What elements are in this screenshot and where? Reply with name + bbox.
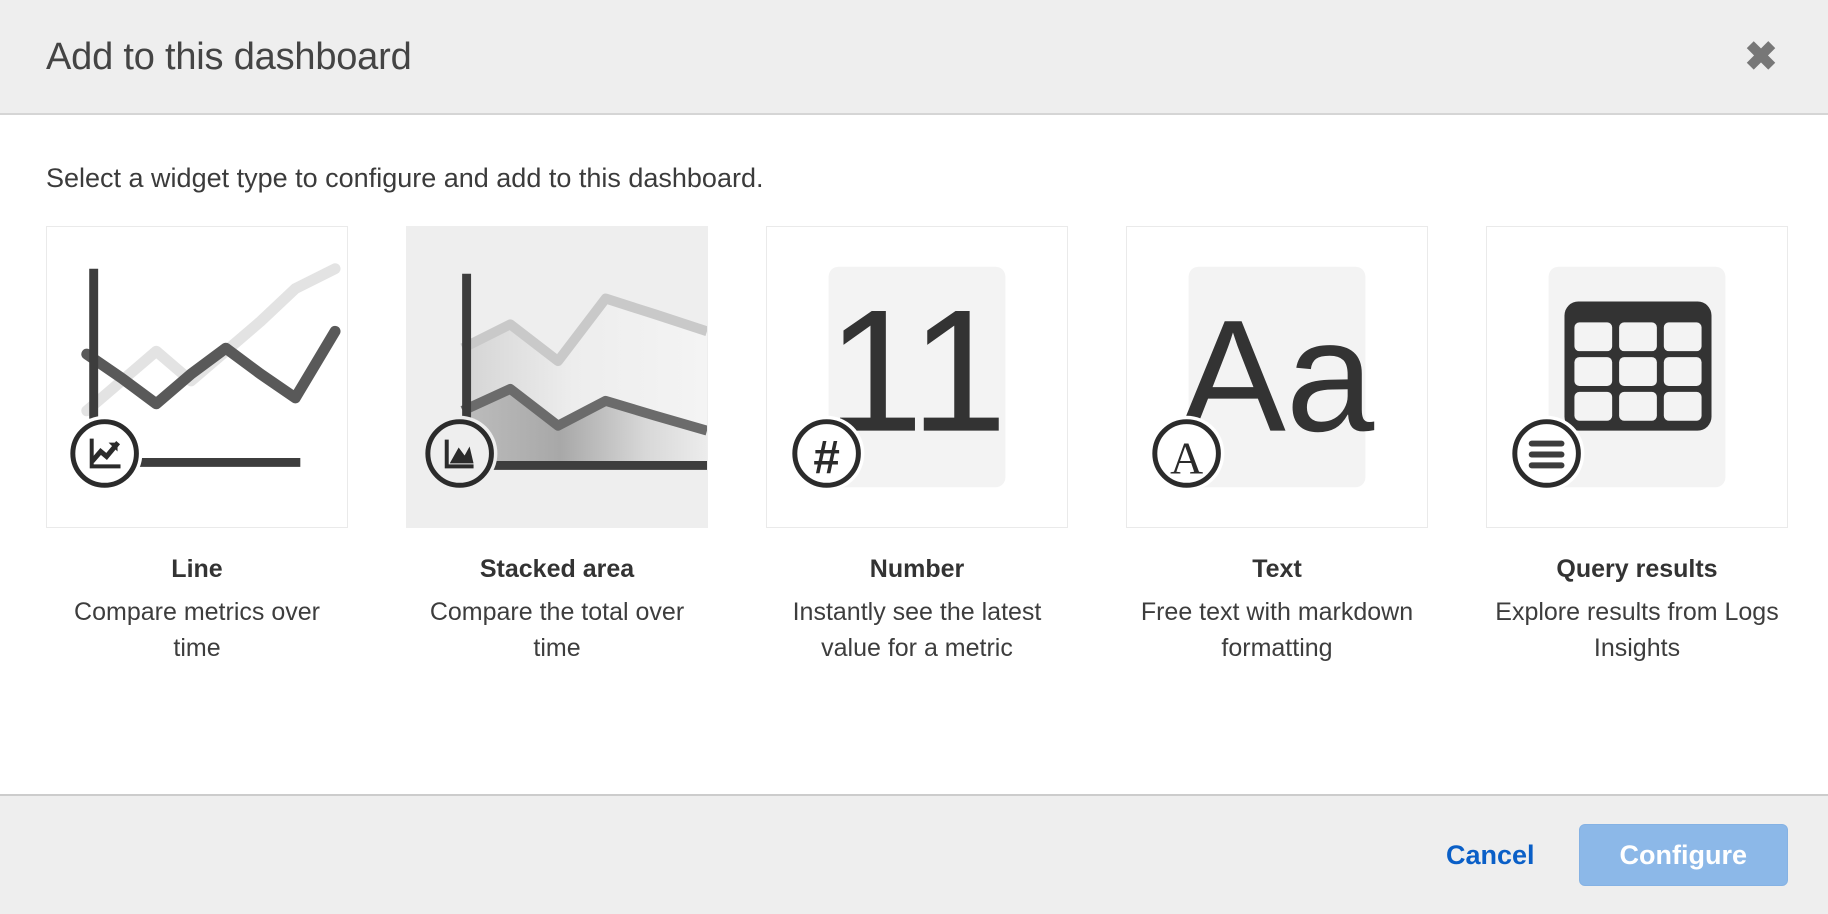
page-title: Add to this dashboard: [46, 38, 412, 76]
configure-button[interactable]: Configure: [1579, 824, 1789, 886]
svg-text:#: #: [813, 431, 840, 484]
widget-thumb-line: [46, 226, 348, 528]
modal-footer: Cancel Configure: [0, 794, 1828, 914]
intro-text: Select a widget type to configure and ad…: [46, 161, 1782, 196]
modal-header: Add to this dashboard ✖: [0, 0, 1828, 115]
widget-label: Stacked area: [406, 554, 708, 584]
widget-description: Explore results from Logs Insights: [1486, 595, 1788, 666]
widget-label: Number: [766, 554, 1068, 584]
number-illustration: 11 #: [767, 227, 1067, 527]
widget-card-stacked-area[interactable]: Stacked area Compare the total over time: [406, 226, 708, 666]
add-to-dashboard-modal: Add to this dashboard ✖ Select a widget …: [0, 0, 1828, 914]
widget-description: Free text with markdown formatting: [1126, 595, 1428, 666]
widget-label: Query results: [1486, 554, 1788, 584]
cancel-button[interactable]: Cancel: [1432, 830, 1549, 881]
widget-thumb-stacked-area: [406, 226, 708, 528]
close-icon[interactable]: ✖: [1734, 30, 1788, 84]
widget-description: Compare the total over time: [406, 595, 708, 666]
widget-description: Instantly see the latest value for a met…: [766, 595, 1068, 666]
widget-description: Compare metrics over time: [46, 595, 348, 666]
widget-type-grid: Line Compare metrics over time: [46, 226, 1782, 666]
widget-thumb-number: 11 #: [766, 226, 1068, 528]
svg-text:A: A: [1170, 432, 1203, 483]
widget-label: Line: [46, 554, 348, 584]
line-chart-illustration: [47, 227, 347, 527]
table-grid-icon: [1564, 302, 1711, 431]
widget-card-number[interactable]: 11 # Number Instantly see the latest val…: [766, 226, 1068, 666]
widget-card-line[interactable]: Line Compare metrics over time: [46, 226, 348, 666]
area-chart-illustration: [407, 227, 707, 527]
table-illustration: [1487, 227, 1787, 527]
text-illustration: Aa A: [1127, 227, 1427, 527]
widget-label: Text: [1126, 554, 1428, 584]
widget-card-text[interactable]: Aa A Text Free text with markdown format…: [1126, 226, 1428, 666]
widget-thumb-query-results: [1486, 226, 1788, 528]
widget-thumb-text: Aa A: [1126, 226, 1428, 528]
modal-body: Select a widget type to configure and ad…: [0, 115, 1828, 794]
widget-card-query-results[interactable]: Query results Explore results from Logs …: [1486, 226, 1788, 666]
